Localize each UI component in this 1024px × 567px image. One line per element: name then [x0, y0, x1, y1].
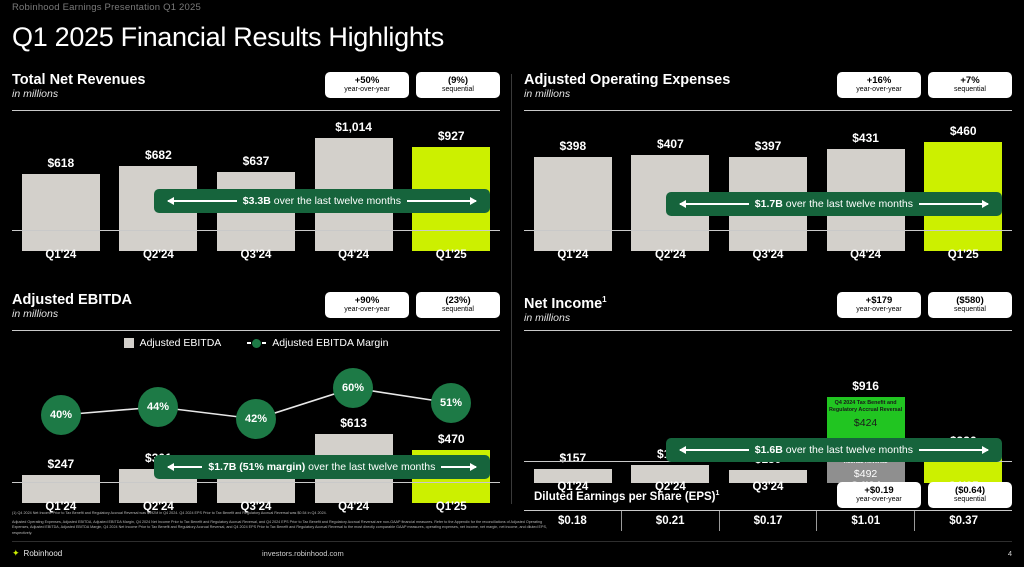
brand-name: Robinhood — [24, 549, 63, 558]
section-header: Net Income1 in millions +$179 year-over-… — [524, 292, 1012, 328]
page-title: Q1 2025 Financial Results Highlights — [12, 22, 444, 53]
legend-line-dot-icon — [247, 339, 266, 348]
ltm-amount: $1.6B — [755, 444, 783, 456]
panel-adjusted-ebitda: Adjusted EBITDA in millions +90% year-ov… — [12, 292, 500, 504]
x-axis-line — [12, 482, 500, 483]
panel-net-income: Net Income1 in millions +$179 year-over-… — [524, 292, 1012, 532]
arrow-right-icon — [407, 200, 476, 202]
x-tick-label: Q3'24 — [729, 249, 807, 261]
pill-value: +90% — [355, 296, 380, 306]
chart-adjusted-ebitda: Adjusted EBITDA Adjusted EBITDA Margin 4… — [12, 331, 500, 503]
legend-label: Adjusted EBITDA — [140, 337, 222, 349]
ltm-caption: over the last twelve months — [783, 198, 913, 210]
legend-item-margin: Adjusted EBITDA Margin — [247, 337, 388, 349]
ltm-banner-text: $1.7B (51% margin) over the last twelve … — [202, 461, 441, 473]
bar-value-label: $157 — [559, 451, 586, 465]
bar-rect — [22, 475, 100, 503]
pill-caption: year-over-year — [856, 86, 902, 93]
pill-yoy: +16% year-over-year — [837, 72, 921, 98]
pill-value: (9%) — [448, 76, 468, 86]
pill-value: ($0.64) — [955, 486, 985, 496]
bar-rect — [22, 174, 100, 251]
legend-item-ebitda: Adjusted EBITDA — [124, 337, 222, 349]
pill-caption: year-over-year — [856, 496, 902, 503]
ltm-caption: over the last twelve months — [305, 461, 435, 473]
x-tick-label: Q2'24 — [119, 249, 197, 261]
pill-value: (23%) — [445, 296, 470, 306]
bar-item: $431 — [827, 131, 905, 251]
stack-segment-value: $492 — [827, 468, 905, 480]
pill-caption: sequential — [442, 86, 474, 93]
pill-sequential: (23%) sequential — [416, 292, 500, 318]
eps-cell: $0.37 — [915, 511, 1012, 531]
ltm-amount: $3.3B — [243, 195, 271, 207]
bar-value-label: $618 — [47, 156, 74, 170]
margin-bubble: 40% — [41, 395, 81, 435]
chart-net-income: $157 $188 $150 $916 Q4 2024 Tax Benefit … — [524, 331, 1012, 483]
ltm-banner: $3.3B over the last twelve months — [154, 189, 491, 213]
x-tick-label: Q1'25 — [924, 249, 1002, 261]
ltm-caption: over the last twelve months — [271, 195, 401, 207]
eps-pill-yoy: +$0.19 year-over-year — [837, 482, 921, 508]
pill-caption: sequential — [954, 496, 986, 503]
margin-bubble: 51% — [431, 383, 471, 423]
bar-item: $247 — [22, 457, 100, 503]
footnote-2: Adjusted Operating Expenses, Adjusted EB… — [12, 520, 557, 537]
x-tick-label: Q3'24 — [217, 249, 295, 261]
section-header: Total Net Revenues in millions +50% year… — [12, 72, 500, 108]
bar-value-label: $916 — [852, 379, 879, 393]
footnotes: (1) Q4 2024 Net Income Prior to Tax Bene… — [12, 511, 557, 540]
footer-website: investors.robinhood.com — [262, 549, 344, 558]
ltm-amount: $1.7B (51% margin) — [208, 461, 305, 473]
panel-adjusted-operating-expenses: Adjusted Operating Expenses in millions … — [524, 72, 1012, 280]
pill-value: +16% — [867, 76, 892, 86]
x-tick-label: Q4'24 — [827, 249, 905, 261]
pill-yoy: +50% year-over-year — [325, 72, 409, 98]
arrow-left-icon — [168, 466, 203, 468]
footer-divider — [12, 541, 1012, 542]
pill-yoy: +$179 year-over-year — [837, 292, 921, 318]
pill-yoy: +90% year-over-year — [325, 292, 409, 318]
arrow-left-icon — [680, 203, 749, 205]
x-axis-line — [524, 230, 1012, 231]
pill-caption: sequential — [954, 86, 986, 93]
ltm-banner: $1.7B (51% margin) over the last twelve … — [154, 455, 491, 479]
x-axis-line — [12, 230, 500, 231]
bar-value-label: $470 — [438, 432, 465, 446]
margin-bubble: 44% — [138, 387, 178, 427]
arrow-right-icon — [441, 466, 476, 468]
x-tick-label: Q1'24 — [534, 249, 612, 261]
pill-sequential: (9%) sequential — [416, 72, 500, 98]
chart-adjusted-operating-expenses: $398 $407 $397 $431 $460 — [524, 111, 1012, 251]
section-header: Adjusted EBITDA in millions +90% year-ov… — [12, 292, 500, 328]
pill-value: +7% — [960, 76, 979, 86]
pill-caption: year-over-year — [344, 86, 390, 93]
metric-pills: +16% year-over-year +7% sequential — [837, 72, 1012, 98]
bar-item: $618 — [22, 156, 100, 251]
bar-value-label: $460 — [950, 124, 977, 138]
bar-item: $460 — [924, 124, 1002, 251]
ltm-banner-text: $1.7B over the last twelve months — [749, 198, 919, 210]
ltm-amount: $1.7B — [755, 198, 783, 210]
chart-total-net-revenues: $618 $682 $637 $1,014 $927 — [12, 111, 500, 251]
pill-sequential: ($580) sequential — [928, 292, 1012, 318]
ltm-banner: $1.7B over the last twelve months — [666, 192, 1003, 216]
eps-cell: $1.01 — [817, 511, 915, 531]
pill-value: ($580) — [956, 296, 983, 306]
eps-title-text: Diluted Earnings per Share (EPS) — [534, 491, 715, 503]
stack-segment-note: Q4 2024 Tax Benefit and Regulatory Accru… — [827, 397, 905, 414]
bar-rect-tax-benefit: Q4 2024 Tax Benefit and Regulatory Accru… — [827, 397, 905, 442]
legend-square-icon — [124, 338, 134, 348]
pill-caption: sequential — [442, 306, 474, 313]
eps-value-row: $0.18 $0.21 $0.17 $1.01 $0.37 — [524, 511, 1012, 531]
section-title-text: Net Income — [524, 296, 602, 312]
bar-value-label: $637 — [243, 154, 270, 168]
arrow-right-icon — [919, 449, 988, 451]
feather-icon: ✦ — [12, 548, 20, 559]
bar-item: $916 Q4 2024 Tax Benefit and Regulatory … — [827, 379, 905, 483]
ltm-caption: over the last twelve months — [783, 444, 913, 456]
bar-item: $1,014 — [315, 120, 393, 251]
stack-segment-value: $424 — [827, 417, 905, 429]
metric-pills: +$179 year-over-year ($580) sequential — [837, 292, 1012, 318]
margin-bubble: 42% — [236, 399, 276, 439]
x-tick-label: Q2'24 — [631, 249, 709, 261]
arrow-left-icon — [168, 200, 237, 202]
metric-pills: +90% year-over-year (23%) sequential — [325, 292, 500, 318]
ltm-banner: $1.6B over the last twelve months — [666, 438, 1003, 462]
arrow-right-icon — [919, 203, 988, 205]
bar-value-label: $613 — [340, 416, 367, 430]
pill-value: +50% — [355, 76, 380, 86]
bar-rect — [534, 157, 612, 251]
eps-cell: $0.21 — [622, 511, 720, 531]
x-tick-label: Q1'24 — [22, 249, 100, 261]
bar-value-label: $247 — [47, 457, 74, 471]
section-title-footnote-marker: 1 — [602, 295, 606, 304]
page-number: 4 — [1008, 549, 1012, 558]
deck-eyebrow: Robinhood Earnings Presentation Q1 2025 — [12, 2, 201, 13]
section-header: Adjusted Operating Expenses in millions … — [524, 72, 1012, 108]
pill-caption: year-over-year — [856, 306, 902, 313]
bar-value-label: $927 — [438, 129, 465, 143]
legend-label: Adjusted EBITDA Margin — [272, 337, 388, 349]
eps-metric-pills: +$0.19 year-over-year ($0.64) sequential — [837, 482, 1012, 508]
arrow-left-icon — [680, 449, 749, 451]
eps-cell: $0.17 — [720, 511, 818, 531]
chart-legend: Adjusted EBITDA Adjusted EBITDA Margin — [12, 337, 500, 349]
bar-value-label: $397 — [755, 139, 782, 153]
eps-pill-sequential: ($0.64) sequential — [928, 482, 1012, 508]
pill-value: +$0.19 — [864, 486, 893, 496]
slide: Robinhood Earnings Presentation Q1 2025 … — [0, 0, 1024, 567]
margin-bubble: 60% — [333, 368, 373, 408]
panel-total-net-revenues: Total Net Revenues in millions +50% year… — [12, 72, 500, 280]
metric-pills: +50% year-over-year (9%) sequential — [325, 72, 500, 98]
pill-caption: sequential — [954, 306, 986, 313]
pill-caption: year-over-year — [344, 306, 390, 313]
bar-value-label: $407 — [657, 137, 684, 151]
brand-logo: ✦ Robinhood — [12, 548, 62, 559]
pill-value: +$179 — [866, 296, 893, 306]
ltm-banner-text: $1.6B over the last twelve months — [749, 444, 919, 456]
x-tick-label: Q1'25 — [412, 249, 490, 261]
bar-item: $157 — [534, 451, 612, 483]
pill-sequential: +7% sequential — [928, 72, 1012, 98]
section-eps: Diluted Earnings per Share (EPS)1 +$0.19… — [524, 482, 1012, 531]
eps-title: Diluted Earnings per Share (EPS)1 — [534, 490, 719, 503]
bar-item: $398 — [534, 139, 612, 251]
bar-value-label: $431 — [852, 131, 879, 145]
footnote-1: (1) Q4 2024 Net Income Prior to Tax Bene… — [12, 511, 557, 517]
eps-header: Diluted Earnings per Share (EPS)1 +$0.19… — [524, 482, 1012, 510]
ltm-banner-text: $3.3B over the last twelve months — [237, 195, 407, 207]
bar-value-label: $1,014 — [335, 120, 372, 134]
eps-footnote-marker: 1 — [715, 490, 719, 497]
panel-vertical-divider — [511, 74, 512, 504]
bar-value-label: $682 — [145, 148, 172, 162]
bar-value-label: $398 — [559, 139, 586, 153]
x-tick-label: Q4'24 — [315, 249, 393, 261]
